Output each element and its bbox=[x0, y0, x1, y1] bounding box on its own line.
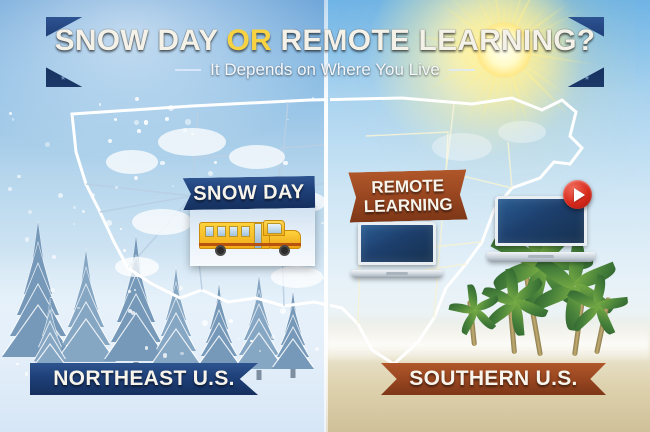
snowflake-icon bbox=[106, 220, 112, 226]
snowflake-icon bbox=[114, 118, 117, 121]
snowflake-icon bbox=[229, 319, 233, 323]
snowflake-icon bbox=[128, 290, 130, 292]
center-divider bbox=[324, 0, 328, 432]
laptop-icon-left bbox=[358, 222, 436, 278]
label-southern-us: SOUTHERN U.S. bbox=[381, 363, 606, 395]
snowflake-icon bbox=[115, 186, 118, 189]
snowflake-icon bbox=[250, 340, 253, 343]
school-bus-icon bbox=[199, 218, 307, 256]
infographic-canvas: ★★★★★ ★★★★★ SNOW DAY OR REMOTE LEARNING?… bbox=[0, 0, 650, 432]
label-snow-day: SNOW DAY bbox=[183, 176, 316, 210]
snowflake-icon bbox=[17, 175, 21, 179]
snowflake-icon bbox=[179, 286, 182, 289]
snowflake-icon bbox=[296, 266, 299, 269]
snowflake-icon bbox=[185, 119, 191, 125]
snowflake-icon bbox=[180, 352, 184, 356]
snowflake-icon bbox=[237, 338, 239, 340]
snowflake-icon bbox=[280, 308, 286, 314]
snowflake-icon bbox=[315, 347, 319, 351]
snowflake-icon bbox=[202, 320, 208, 326]
snowflake-icon bbox=[108, 139, 112, 143]
snowflake-icon bbox=[283, 161, 287, 165]
snowflake-icon bbox=[16, 363, 18, 365]
school-bus-photo-card bbox=[190, 204, 315, 266]
label-remote-learning-line1: REMOTE bbox=[363, 176, 452, 197]
snowflake-icon bbox=[191, 133, 194, 136]
snowflake-icon bbox=[165, 117, 168, 120]
label-northeast-us: NORTHEAST U.S. bbox=[30, 363, 258, 395]
snowflake-icon bbox=[168, 105, 174, 111]
snowflake-icon bbox=[45, 142, 50, 147]
snowflake-icon bbox=[144, 120, 148, 124]
snowflake-icon bbox=[25, 237, 29, 241]
snowflake-icon bbox=[163, 353, 167, 357]
snowflake-icon bbox=[120, 228, 122, 230]
label-remote-learning: REMOTE LEARNING bbox=[348, 169, 467, 222]
play-triangle-icon bbox=[574, 188, 585, 202]
label-remote-learning-line2: LEARNING bbox=[364, 195, 453, 216]
snowflake-icon bbox=[50, 297, 52, 299]
snowflake-icon bbox=[134, 289, 136, 291]
snowflake-icon bbox=[50, 288, 54, 292]
snowflake-icon bbox=[183, 128, 187, 132]
play-button-icon[interactable] bbox=[563, 180, 592, 209]
snowflake-icon bbox=[321, 222, 323, 224]
snowflake-icon bbox=[323, 276, 326, 280]
snowflake-icon bbox=[135, 97, 139, 101]
snowflake-icon bbox=[25, 372, 28, 375]
snowflake-icon bbox=[271, 335, 275, 339]
snowflake-icon bbox=[214, 161, 216, 163]
